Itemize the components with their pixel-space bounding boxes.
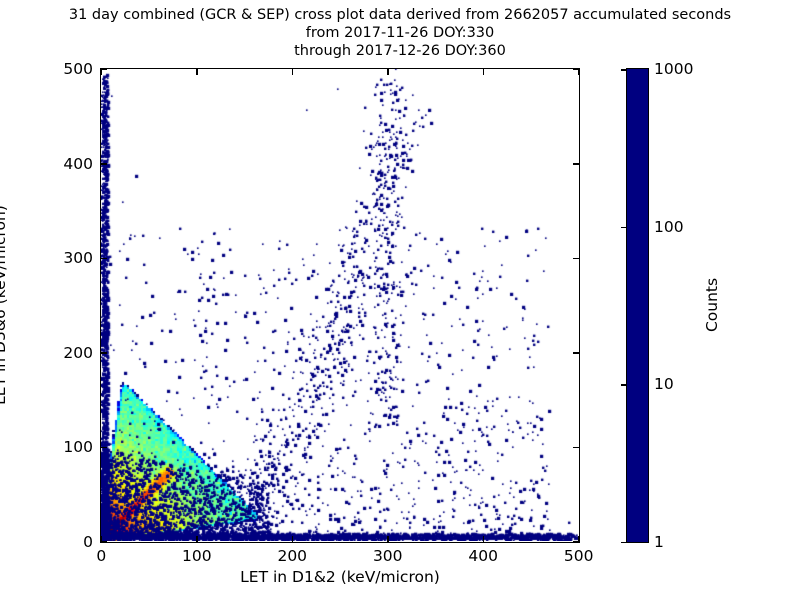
y-tick-400 [101, 163, 107, 164]
colorbar-tick-1 [621, 542, 626, 543]
x-tick-label-200: 200 [277, 547, 307, 565]
colorbar-tick-label-1: 1 [654, 533, 664, 551]
y-tick-right-500 [573, 69, 579, 70]
x-tick-label-100: 100 [182, 547, 212, 565]
x-tick-top-400 [483, 69, 484, 75]
chart-title-line-3: through 2017-12-26 DOY:360 [0, 42, 800, 60]
x-tick-label-500: 500 [564, 547, 594, 565]
y-tick-0 [101, 541, 107, 542]
x-tick-300 [387, 536, 388, 542]
y-tick-right-300 [573, 258, 579, 259]
x-tick-label-0: 0 [96, 547, 106, 565]
colorbar-tick-10 [621, 384, 626, 385]
y-tick-right-0 [573, 541, 579, 542]
colorbar-tick-100 [621, 227, 626, 228]
y-tick-500 [101, 69, 107, 70]
colorbar-gradient [626, 68, 649, 543]
x-tick-400 [483, 536, 484, 542]
y-axis-label: LET in D5&6 (keV/micron) [0, 205, 9, 405]
colorbar-tick-label-100: 100 [654, 218, 684, 236]
colorbar [626, 68, 649, 543]
figure-root: 31 day combined (GCR & SEP) cross plot d… [0, 0, 800, 600]
y-tick-right-400 [573, 163, 579, 164]
y-tick-label-500: 500 [63, 60, 93, 78]
y-tick-label-400: 400 [63, 155, 93, 173]
colorbar-tick-label-10: 10 [654, 375, 674, 393]
density-scatter-canvas [101, 69, 578, 541]
chart-title: 31 day combined (GCR & SEP) cross plot d… [0, 6, 800, 60]
chart-title-line-2: from 2017-11-26 DOY:330 [0, 24, 800, 42]
x-axis-label: LET in D1&2 (keV/micron) [100, 568, 580, 586]
x-tick-100 [196, 536, 197, 542]
colorbar-tick-label-1000: 1000 [654, 60, 693, 78]
y-tick-200 [101, 352, 107, 353]
y-tick-right-100 [573, 447, 579, 448]
x-tick-label-400: 400 [468, 547, 498, 565]
y-tick-label-200: 200 [63, 344, 93, 362]
y-tick-label-300: 300 [63, 249, 93, 267]
y-tick-100 [101, 447, 107, 448]
colorbar-tick-1000 [621, 69, 626, 70]
x-tick-top-100 [196, 69, 197, 75]
y-tick-label-0: 0 [83, 533, 93, 551]
colorbar-label: Counts [703, 278, 721, 332]
chart-title-line-1: 31 day combined (GCR & SEP) cross plot d… [0, 6, 800, 24]
x-tick-top-200 [292, 69, 293, 75]
plot-area [100, 68, 580, 543]
x-tick-200 [292, 536, 293, 542]
y-tick-label-100: 100 [63, 438, 93, 456]
x-tick-top-300 [387, 69, 388, 75]
y-tick-right-200 [573, 352, 579, 353]
y-tick-300 [101, 258, 107, 259]
x-tick-label-300: 300 [373, 547, 403, 565]
